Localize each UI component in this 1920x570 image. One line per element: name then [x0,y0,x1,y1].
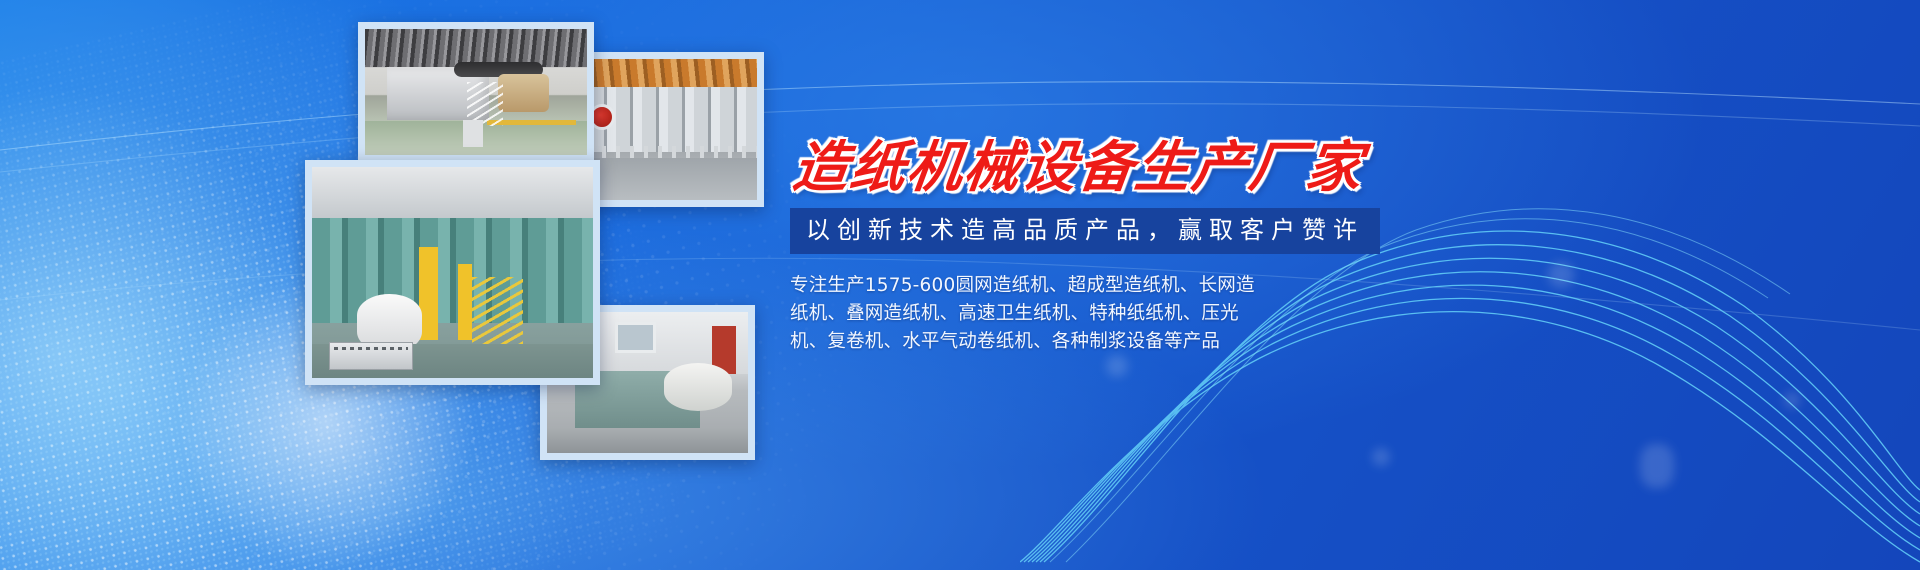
banner-description: 专注生产1575-600圆网造纸机、超成型造纸机、长网造纸机、叠网造纸机、高速卫… [790,272,1273,356]
banner-headline: 造纸机械设备生产厂家 [790,140,1317,195]
photo-large-paper-machine-workshop [305,160,600,385]
banner-subtitle-bar: 以创新技术造高品质产品，赢取客户赞许 [790,208,1380,254]
promo-banner: 造纸机械设备生产厂家 以创新技术造高品质产品，赢取客户赞许 专注生产1575-6… [0,0,1920,570]
banner-text-block: 造纸机械设备生产厂家 以创新技术造高品质产品，赢取客户赞许 专注生产1575-6… [790,140,1310,356]
photo-paper-mill-production-hall [358,22,594,162]
